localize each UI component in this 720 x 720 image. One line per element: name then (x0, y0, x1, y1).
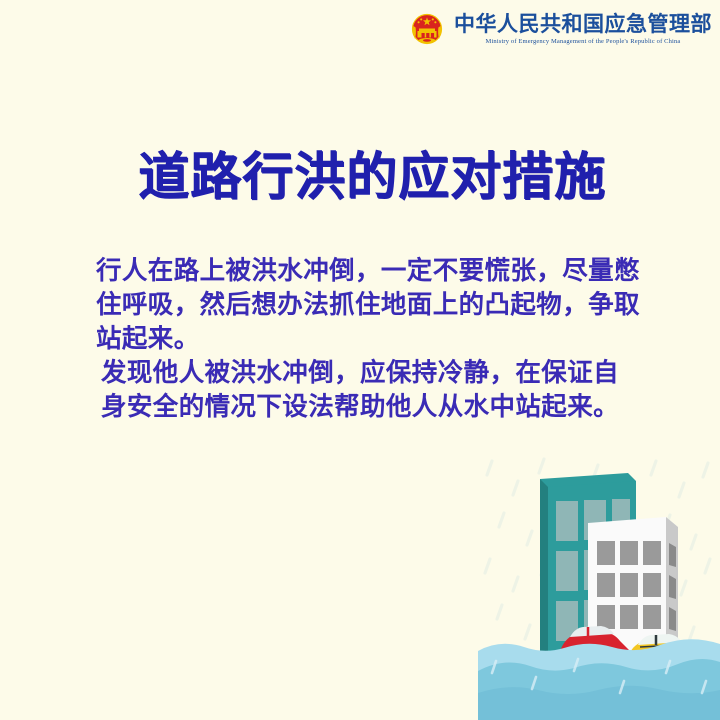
ministry-name-cn: 中华人民共和国应急管理部 (454, 14, 712, 35)
paragraph-1: 行人在路上被洪水冲倒，一定不要慌张，尽量憋住呼吸，然后想办法抓住地面上的凸起物，… (96, 254, 644, 356)
poster-header: 中华人民共和国应急管理部 Ministry of Emergency Manag… (0, 0, 720, 60)
ministry-name-en: Ministry of Emergency Management of the … (486, 39, 681, 46)
page-title: 道路行洪的应对措施 (138, 150, 606, 206)
flooded-street-illustration (478, 455, 720, 720)
flood-water (478, 639, 720, 720)
ministry-name-block: 中华人民共和国应急管理部 Ministry of Emergency Manag… (454, 14, 712, 46)
content-body: 行人在路上被洪水冲倒，一定不要慌张，尽量憋住呼吸，然后想办法抓住地面上的凸起物，… (96, 254, 644, 424)
poster-canvas: 中华人民共和国应急管理部 Ministry of Emergency Manag… (0, 0, 720, 720)
paragraph-2: 发现他人被洪水冲倒，应保持冷静，在保证自身安全的情况下设法帮助他人从水中站起来。 (96, 356, 644, 424)
china-national-emblem-icon (409, 12, 445, 48)
ministry-branding: 中华人民共和国应急管理部 Ministry of Emergency Manag… (409, 12, 712, 48)
